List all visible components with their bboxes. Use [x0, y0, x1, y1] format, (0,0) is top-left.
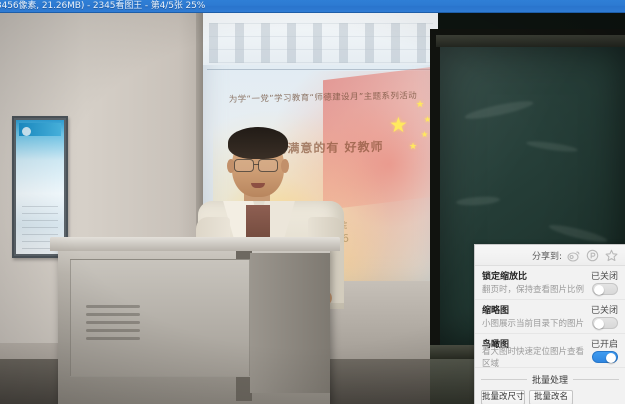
toggle-knob: [594, 285, 604, 295]
flag-star-icon: ★: [389, 115, 408, 136]
lectern-vent: [86, 305, 140, 308]
setting-thumbnail: 缩略图 已关闭 小图展示当前目录下的图片: [475, 300, 625, 334]
window-title: 3456像素, 21.26MB) - 2345看图王 - 第4/5张 25%: [0, 1, 205, 12]
batch-rename-button[interactable]: 批量改名: [529, 390, 573, 404]
share-row: 分享到:: [475, 245, 625, 266]
poster-header-band: [19, 123, 61, 136]
image-viewer-window: 3456像素, 21.26MB) - 2345看图王 - 第4/5张 25% ★…: [0, 0, 625, 404]
share-label: 分享到:: [532, 249, 562, 262]
setting-birdview: 鸟瞰图 已开启 看大图时快速定位图片查看区域: [475, 334, 625, 368]
setting-state: 已关闭: [591, 303, 618, 316]
toggle-thumbnail[interactable]: [592, 317, 618, 329]
setting-state: 已关闭: [591, 269, 618, 282]
setting-title: 锁定缩放比: [482, 269, 527, 282]
qzone-share-icon[interactable]: [586, 249, 599, 262]
lectern-top: [50, 237, 340, 251]
batch-processing-section: 批量处理 批量改尺寸 批量改名 批量转正 批量加水印 批量加文字: [475, 368, 625, 404]
setting-body: 翻页时，保持查看图片比例: [482, 282, 618, 296]
glasses-bridge: [254, 164, 259, 165]
settings-panel: 分享到:: [474, 244, 625, 404]
toggle-lock-zoom-ratio[interactable]: [592, 283, 618, 295]
setting-body: 小图展示当前目录下的图片: [482, 316, 618, 330]
lectern-front-panel: [70, 259, 250, 377]
setting-title: 缩略图: [482, 303, 509, 316]
lectern-vent: [86, 337, 140, 340]
blackboard-top-frame: [436, 35, 625, 47]
person-hair: [228, 127, 288, 159]
batch-button-grid: 批量改尺寸 批量改名 批量转正 批量加水印 批量加文字: [481, 390, 619, 404]
poster-inner: [16, 120, 64, 254]
lectern-vent: [86, 321, 140, 324]
setting-description: 小图展示当前目录下的图片: [482, 317, 584, 329]
batch-resize-button[interactable]: 批量改尺寸: [481, 390, 525, 404]
toggle-knob: [606, 353, 616, 363]
presentation-toolbar-rows: [209, 23, 433, 63]
person-ear-right: [281, 159, 289, 173]
setting-description: 翻页时，保持查看图片比例: [482, 283, 584, 295]
window-titlebar[interactable]: 3456像素, 21.26MB) - 2345看图王 - 第4/5张 25%: [0, 0, 625, 13]
lectern-vent: [86, 329, 140, 332]
divider-line-left: [481, 379, 527, 380]
glasses-lens-right: [258, 159, 278, 172]
batch-processing-title: 批量处理: [532, 373, 568, 386]
setting-header: 缩略图 已关闭: [482, 303, 618, 315]
setting-header: 锁定缩放比 已关闭: [482, 269, 618, 281]
toggle-knob: [594, 319, 604, 329]
glasses-lens-left: [234, 159, 254, 172]
poster-logo-dot: [22, 127, 31, 136]
lectern-vent: [86, 313, 140, 316]
weibo-share-icon[interactable]: [567, 249, 580, 262]
setting-lock-zoom-ratio: 锁定缩放比 已关闭 翻页时，保持查看图片比例: [475, 266, 625, 300]
setting-state: 已开启: [591, 337, 618, 350]
favorite-share-icon[interactable]: [605, 249, 618, 262]
share-icon-group: [567, 249, 618, 262]
divider-line-right: [573, 379, 619, 380]
flag-star-icon: ★: [416, 101, 424, 110]
batch-processing-header: 批量处理: [481, 373, 619, 386]
setting-description: 看大图时快速定位图片查看区域: [482, 345, 592, 369]
toggle-birdview[interactable]: [592, 351, 618, 363]
lectern-side-panel: [250, 253, 330, 393]
setting-body: 看大图时快速定位图片查看区域: [482, 350, 618, 364]
flag-star-icon: ★: [421, 131, 428, 139]
